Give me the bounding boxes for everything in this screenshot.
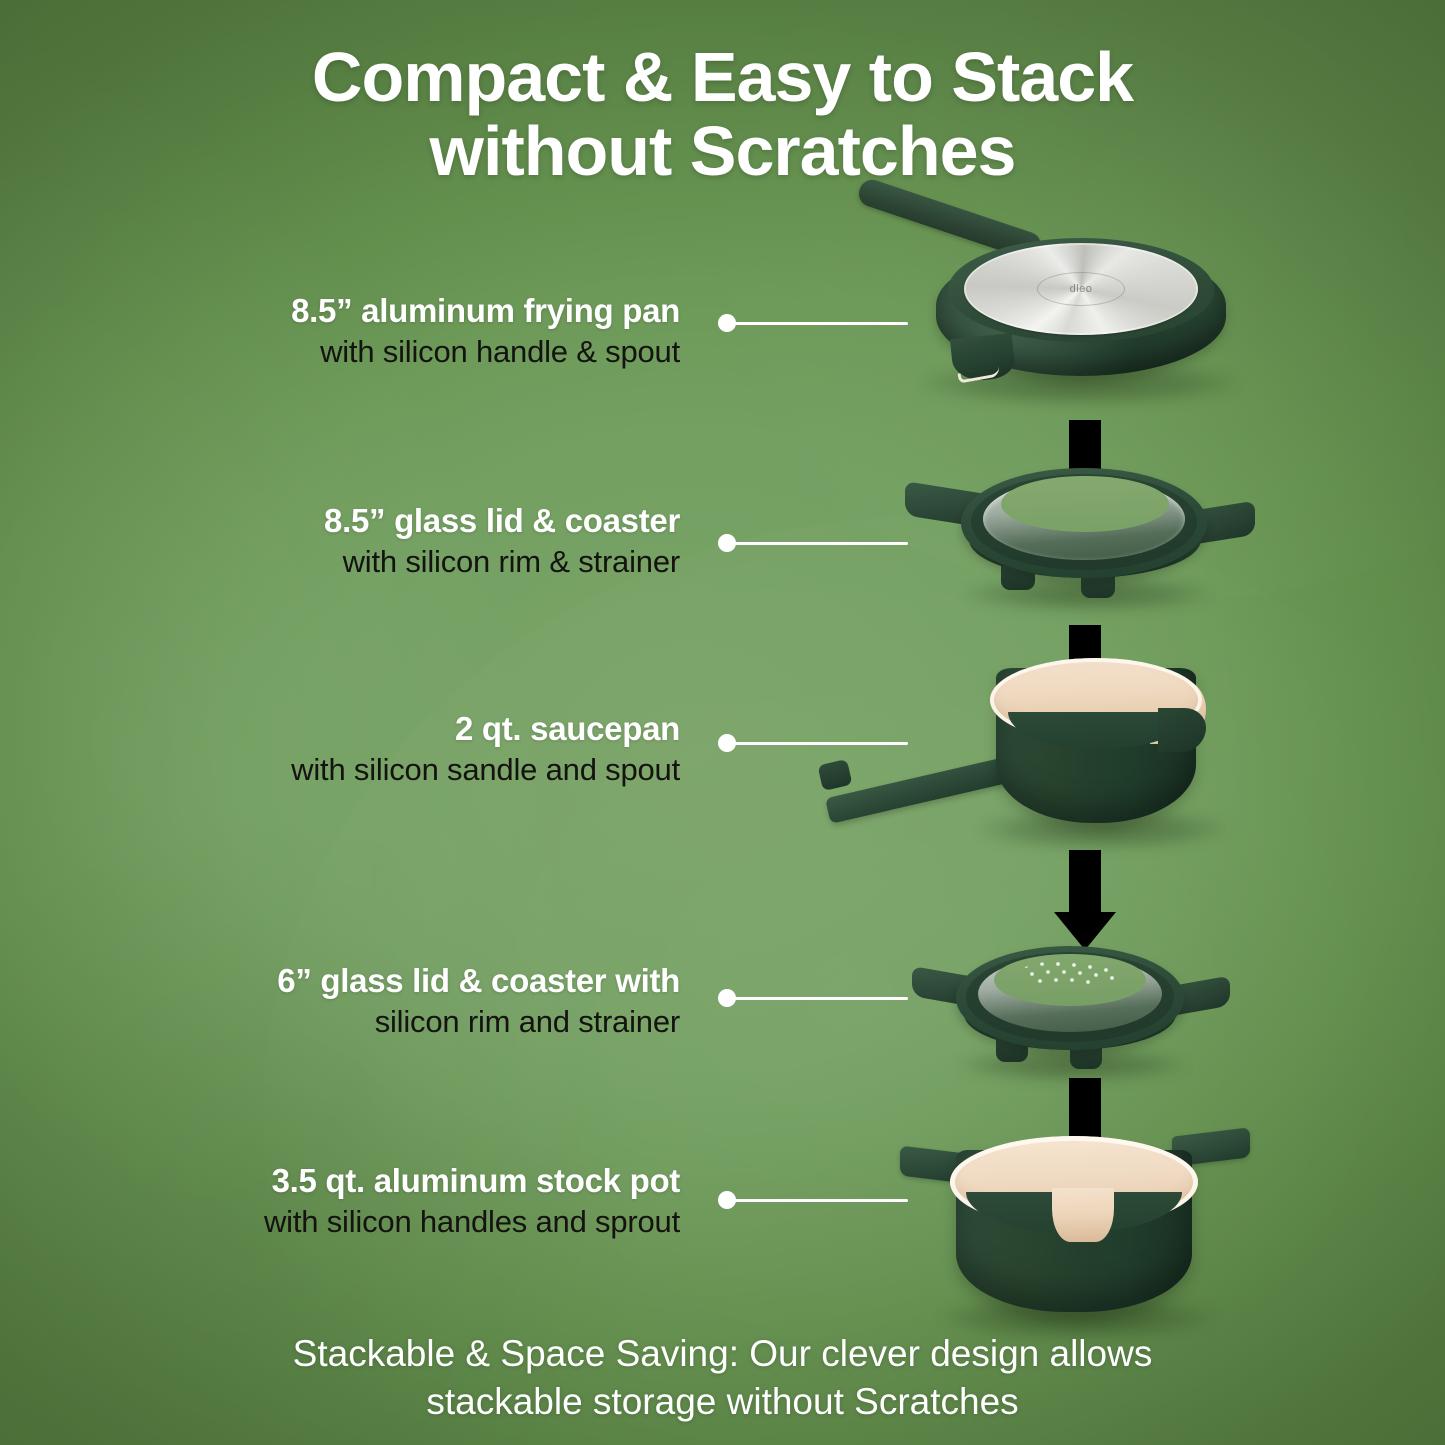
pot-spout [1052,1188,1114,1242]
callout-saucepan: 2 qt. saucepan with silicon sandle and s… [120,710,680,788]
leader-stroke [727,997,908,1000]
product-image-stock-pot [900,1122,1250,1322]
callout-title: 8.5” aluminum frying pan [120,292,680,330]
callout-glass-lid-small: 6” glass lid & coaster with silicon rim … [120,962,680,1040]
callout-title: 6” glass lid & coaster with [120,962,680,1000]
page-title-line-1: Compact & Easy to Stack [312,38,1133,116]
stacking-arrow-down-icon-3 [1053,850,1117,948]
callout-frying-pan: 8.5” aluminum frying pan with silicon ha… [120,292,680,370]
callout-subtitle: with silicon sandle and spout [120,751,680,788]
callout-glass-lid-large: 8.5” glass lid & coaster with silicon ri… [120,502,680,580]
callout-subtitle: with silicon handle & spout [120,333,680,370]
pan-base-logo: dleo [1070,283,1093,295]
leader-stroke [727,542,908,545]
footer-line-1: Stackable & Space Saving: Our clever des… [293,1333,1153,1374]
callout-stock-pot: 3.5 qt. aluminum stock pot with silicon … [120,1162,680,1240]
leader-stroke [727,1199,908,1202]
leader-line-stock-pot [718,1190,908,1210]
product-image-glass-lid-large [905,458,1255,598]
page-title: Compact & Easy to Stack without Scratche… [0,40,1445,188]
callout-title: 2 qt. saucepan [120,710,680,748]
leader-line-glass-lid-large [718,533,908,553]
footer-line-2: stackable storage without Scratches [0,1378,1445,1426]
leader-line-glass-lid-small [718,988,908,1008]
callout-title: 3.5 qt. aluminum stock pot [120,1162,680,1200]
footer-caption: Stackable & Space Saving: Our clever des… [0,1330,1445,1426]
product-image-glass-lid-small [912,938,1230,1074]
product-image-frying-pan: dleo [840,232,1230,412]
pan-aluminum-base-disc: dleo [964,243,1198,335]
saucepan-handle-end [817,759,852,791]
saucepan-spout-outer [1158,708,1206,752]
callout-title: 8.5” glass lid & coaster [120,502,680,540]
infographic-canvas: Compact & Easy to Stack without Scratche… [0,0,1445,1445]
lid-glass-opening [1001,476,1169,532]
callout-subtitle: silicon rim and strainer [120,1003,680,1040]
callout-subtitle: with silicon rim & strainer [120,543,680,580]
page-title-line-2: without Scratches [0,114,1445,188]
arrow-shaft [1069,850,1101,916]
lid-strainer-holes [1018,960,1128,988]
callout-subtitle: with silicon handles and sprout [120,1203,680,1240]
product-image-saucepan [818,650,1218,850]
